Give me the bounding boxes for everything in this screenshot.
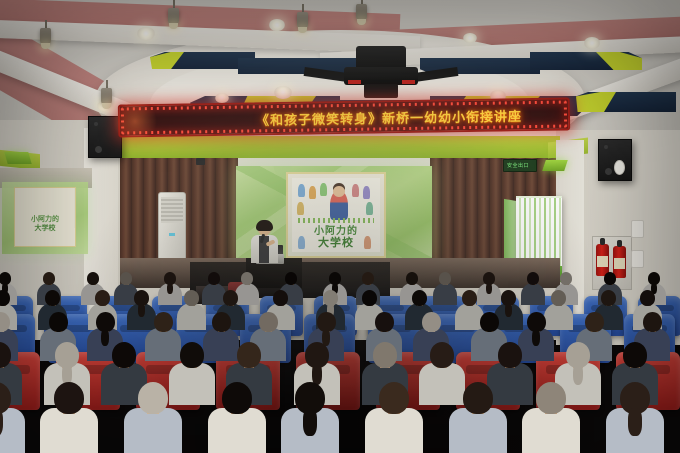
left-projection-title-2: 大学校: [15, 223, 75, 233]
audience-member-torso: [521, 283, 545, 305]
presenter-hair: [256, 220, 273, 231]
audience-member-head: [375, 312, 394, 332]
downlight-4: [584, 37, 600, 49]
audience-member-ponytail: [101, 329, 109, 346]
audience-member-head: [412, 290, 427, 306]
audience-member-head: [643, 312, 662, 332]
audience-member-head: [273, 290, 288, 306]
spotlight-2: [168, 8, 179, 25]
audience-member-head: [362, 290, 377, 306]
audience-member-head: [223, 290, 238, 306]
wall-green-band: [120, 136, 560, 158]
audience-member-head: [462, 290, 477, 306]
wall-speaker-right: [598, 139, 632, 181]
green-wall-lamp-left: [4, 152, 31, 164]
security-camera-icon: [196, 158, 205, 165]
audience-member-torso: [433, 283, 457, 305]
audience-member-head: [259, 312, 278, 332]
audience-member-ponytail: [138, 303, 145, 317]
rig-indicator-right: [402, 80, 415, 84]
audience-member-head: [95, 290, 110, 306]
audience-member-head: [222, 382, 252, 414]
downlight-5: [274, 86, 292, 99]
audience-member-ponytail: [505, 303, 512, 317]
left-wall-projection: 小阿力的 大学校: [2, 182, 88, 254]
audience-member-head: [623, 342, 647, 368]
wall-smoke-detector: [614, 160, 625, 175]
light-switch-plate-1[interactable]: [631, 220, 644, 238]
audience-member-torso: [487, 363, 533, 405]
audience-member-head: [379, 382, 409, 414]
audience-member-torso: [177, 303, 206, 330]
audience-member-ponytail: [628, 408, 641, 435]
slide-title-line2: 大学校: [292, 234, 380, 250]
audience-member-ponytail: [532, 329, 540, 346]
audience-member-head: [480, 312, 499, 332]
exit-sign-label: 安全出口: [507, 162, 529, 169]
audience-member-torso: [208, 408, 266, 453]
slide-character-head: [333, 186, 345, 197]
audience-member-torso: [365, 408, 423, 453]
audience-member-ponytail: [486, 283, 491, 294]
downlight-1: [137, 27, 155, 40]
slide-book-cover: 小阿力的 大学校: [286, 172, 386, 258]
audience-member-head: [154, 312, 173, 332]
led-banner-glow: [112, 100, 159, 143]
audience-member-head: [498, 342, 522, 368]
slide-inner: 小阿力的 大学校: [292, 178, 380, 252]
audience-member-head: [49, 312, 68, 332]
audience-member-torso: [449, 408, 507, 453]
ac-status-led: [169, 233, 175, 236]
audience-member-torso: [522, 408, 580, 453]
audience-member-head: [184, 290, 199, 306]
audience-member-head: [373, 342, 397, 368]
lecture-hall-photo: 安全出口 《和孩子微笑转身》新桥一幼幼小衔接讲座: [0, 0, 680, 453]
audience-member-head: [112, 342, 136, 368]
audience-member-head: [180, 342, 204, 368]
rig-lens-housing: [364, 84, 398, 98]
audience-member-head: [54, 382, 84, 414]
audience-member-torso: [203, 328, 239, 361]
audience-member-head: [45, 290, 60, 306]
audience-member-head: [422, 312, 441, 332]
ac-grill: [161, 197, 183, 223]
audience-member-torso: [145, 328, 181, 361]
downlight-2: [269, 19, 285, 31]
audience-member-head: [463, 382, 493, 414]
downlight-6: [215, 93, 229, 103]
audience-member-ponytail: [303, 408, 316, 435]
spotlight-1: [40, 28, 51, 45]
ceiling-projector-rig: [322, 44, 440, 100]
left-projection-slide: 小阿力的 大学校: [14, 187, 76, 247]
audience-member-head: [640, 290, 655, 306]
spotlight-3: [297, 12, 308, 29]
audience-member-head: [551, 290, 566, 306]
audience-member-head: [212, 312, 231, 332]
audience-member-torso: [0, 408, 25, 453]
audience-area: [0, 256, 680, 453]
audience-member-torso: [235, 283, 259, 305]
audience-member-head: [536, 382, 566, 414]
spotlight-4: [101, 88, 112, 105]
audience-member-head: [237, 342, 261, 368]
audience-member-head: [430, 342, 454, 368]
audience-member-torso: [124, 408, 182, 453]
audience-member-head: [601, 290, 616, 306]
audience-member-head: [138, 382, 168, 414]
exit-sign: 安全出口: [503, 159, 537, 172]
rig-indicator-left: [348, 80, 361, 84]
audience-member-torso: [169, 363, 215, 405]
downlight-3: [463, 33, 477, 43]
audience-member-head: [585, 312, 604, 332]
audience-member-ponytail: [573, 363, 584, 385]
spotlight-5: [356, 4, 367, 21]
audience-member-torso: [40, 408, 98, 453]
audience-member-torso: [544, 303, 573, 330]
audience-member-ponytail: [167, 283, 172, 294]
chair-backrest-slot: [429, 305, 458, 311]
green-wall-lamp-right: [542, 160, 568, 171]
audience-member-torso: [419, 363, 465, 405]
